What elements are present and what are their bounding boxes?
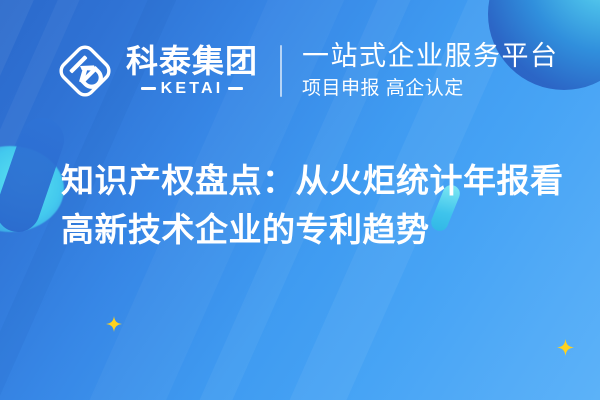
vertical-divider: [280, 45, 282, 97]
banner-header: 科泰集团 KETAI 一站式企业服务平台 项目申报 高企认定: [56, 42, 559, 100]
page-title: 知识产权盘点：从火炬统计年报看 高新技术企业的专利趋势: [61, 156, 561, 254]
headline-line-2: 高新技术企业的专利趋势: [61, 205, 561, 254]
dash-right-icon: [228, 87, 243, 90]
diagonal-streak-dark: [0, 0, 40, 400]
dash-left-icon: [141, 87, 156, 90]
sparkle-star-icon: [557, 339, 574, 356]
headline-line-1: 知识产权盘点：从火炬统计年报看: [61, 156, 561, 205]
dark-capsule-icon: [0, 112, 70, 238]
tagline-main: 一站式企业服务平台: [302, 42, 559, 72]
tagline-sub: 项目申报 高企认定: [302, 79, 559, 100]
brand-name-en-row: KETAI: [141, 81, 244, 97]
sparkle-star-icon: [106, 316, 122, 332]
brand-lockup: 科泰集团 KETAI: [126, 45, 258, 97]
cyan-blob-icon: [0, 146, 64, 232]
brand-name-cn: 科泰集团: [126, 45, 258, 78]
tagline-block: 一站式企业服务平台 项目申报 高企认定: [302, 42, 559, 100]
brand-name-en: KETAI: [161, 81, 224, 97]
ketai-kd-diamond-logo-icon: [56, 42, 114, 100]
promo-banner: 科泰集团 KETAI 一站式企业服务平台 项目申报 高企认定 知识产权盘点：从火…: [0, 0, 600, 400]
